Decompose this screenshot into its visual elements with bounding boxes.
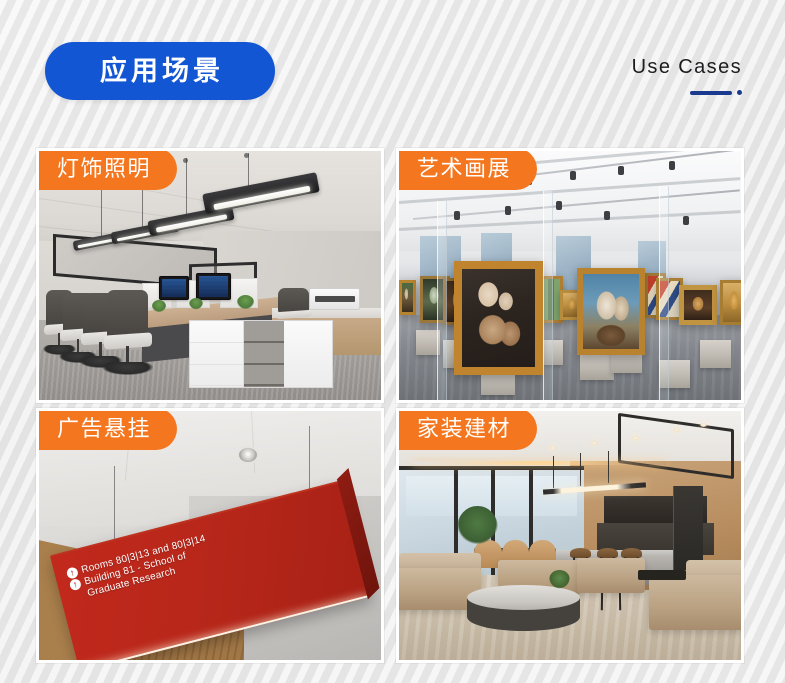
painting [720, 280, 741, 325]
track-spotlight [618, 166, 624, 175]
coffee-table [467, 585, 580, 640]
painting-secondary [577, 268, 645, 355]
downlight [632, 436, 639, 440]
desk-plant [189, 298, 203, 310]
use-case-card-advertising[interactable]: ↑ Rooms 80|3|13 and 80|3|14 ↑ Building 8… [36, 408, 384, 663]
track-spotlight [604, 211, 610, 220]
painting [679, 285, 717, 325]
glass-partition [543, 191, 553, 400]
sofa-right [649, 575, 741, 630]
card-tag-lighting: 灯饰照明 [39, 151, 177, 190]
arrow-up-icon: ↑ [68, 577, 81, 590]
glass-partition [659, 186, 669, 400]
desk-plant [237, 295, 254, 310]
page-header: 应用场景 Use Cases [0, 0, 785, 148]
use-case-card-art-exhibition[interactable]: 艺术画展 [396, 148, 744, 403]
underline-dot [737, 90, 742, 95]
storage-cabinet [189, 320, 333, 387]
pendant-cord [608, 451, 609, 483]
suspension-wire [114, 466, 115, 541]
card-tag-home-decor: 家装建材 [399, 411, 537, 450]
painting [399, 280, 416, 315]
office-chair [107, 290, 148, 375]
photo-hanging-sign: ↑ Rooms 80|3|13 and 80|3|14 ↑ Building 8… [39, 411, 381, 660]
desk-plant [152, 300, 166, 312]
sign-text-block: ↑ Rooms 80|3|13 and 80|3|14 ↑ Building 8… [65, 533, 212, 603]
use-case-card-lighting[interactable]: 灯饰照明 [36, 148, 384, 403]
cove-light [413, 461, 666, 465]
header-english-title: Use Cases [632, 56, 742, 79]
page-title: 应用场景 [96, 58, 224, 85]
pendant-cord [553, 456, 554, 488]
glass-partition [437, 201, 447, 400]
refrigerator [673, 486, 704, 571]
printer [309, 288, 360, 310]
underline-bar [690, 91, 732, 95]
track-spotlight [570, 171, 576, 180]
track-spotlight [454, 211, 460, 220]
ottoman-right [577, 558, 645, 593]
card-tag-advertising: 广告悬挂 [39, 411, 177, 450]
arrow-up-icon: ↑ [65, 566, 78, 579]
suspension-wire [309, 426, 310, 496]
monitor [196, 273, 230, 300]
header-underline [632, 90, 742, 95]
cabinet-drawers [190, 321, 244, 386]
track-spotlight [505, 206, 511, 215]
monitor [159, 276, 190, 301]
card-tag-label: 艺术画展 [417, 158, 511, 180]
sign-indent-spacer [73, 594, 84, 597]
page-title-badge: 应用场景 [45, 42, 275, 100]
lamp-cord [186, 158, 187, 215]
card-tag-art-exhibition: 艺术画展 [399, 151, 537, 190]
track-spotlight [683, 216, 689, 225]
photo-art-gallery: 艺术画展 [399, 151, 741, 400]
photo-office-lighting: 灯饰照明 [39, 151, 381, 400]
use-case-grid: 灯饰照明 [36, 148, 748, 663]
use-case-card-home-decor[interactable]: 家装建材 [396, 408, 744, 663]
painting-featured [454, 261, 543, 376]
pedestal [700, 340, 731, 367]
office-chair [278, 288, 309, 333]
track-spotlight [669, 161, 675, 170]
side-table [638, 570, 686, 580]
photo-living-room: 家装建材 [399, 411, 741, 660]
downlight [591, 441, 598, 445]
card-tag-label: 广告悬挂 [57, 418, 151, 440]
lamp-cord [248, 153, 249, 188]
card-tag-label: 灯饰照明 [57, 158, 151, 180]
header-english-block: Use Cases [632, 56, 742, 95]
pendant-cord [580, 453, 581, 485]
track-spotlight [556, 201, 562, 210]
card-tag-label: 家装建材 [417, 418, 511, 440]
